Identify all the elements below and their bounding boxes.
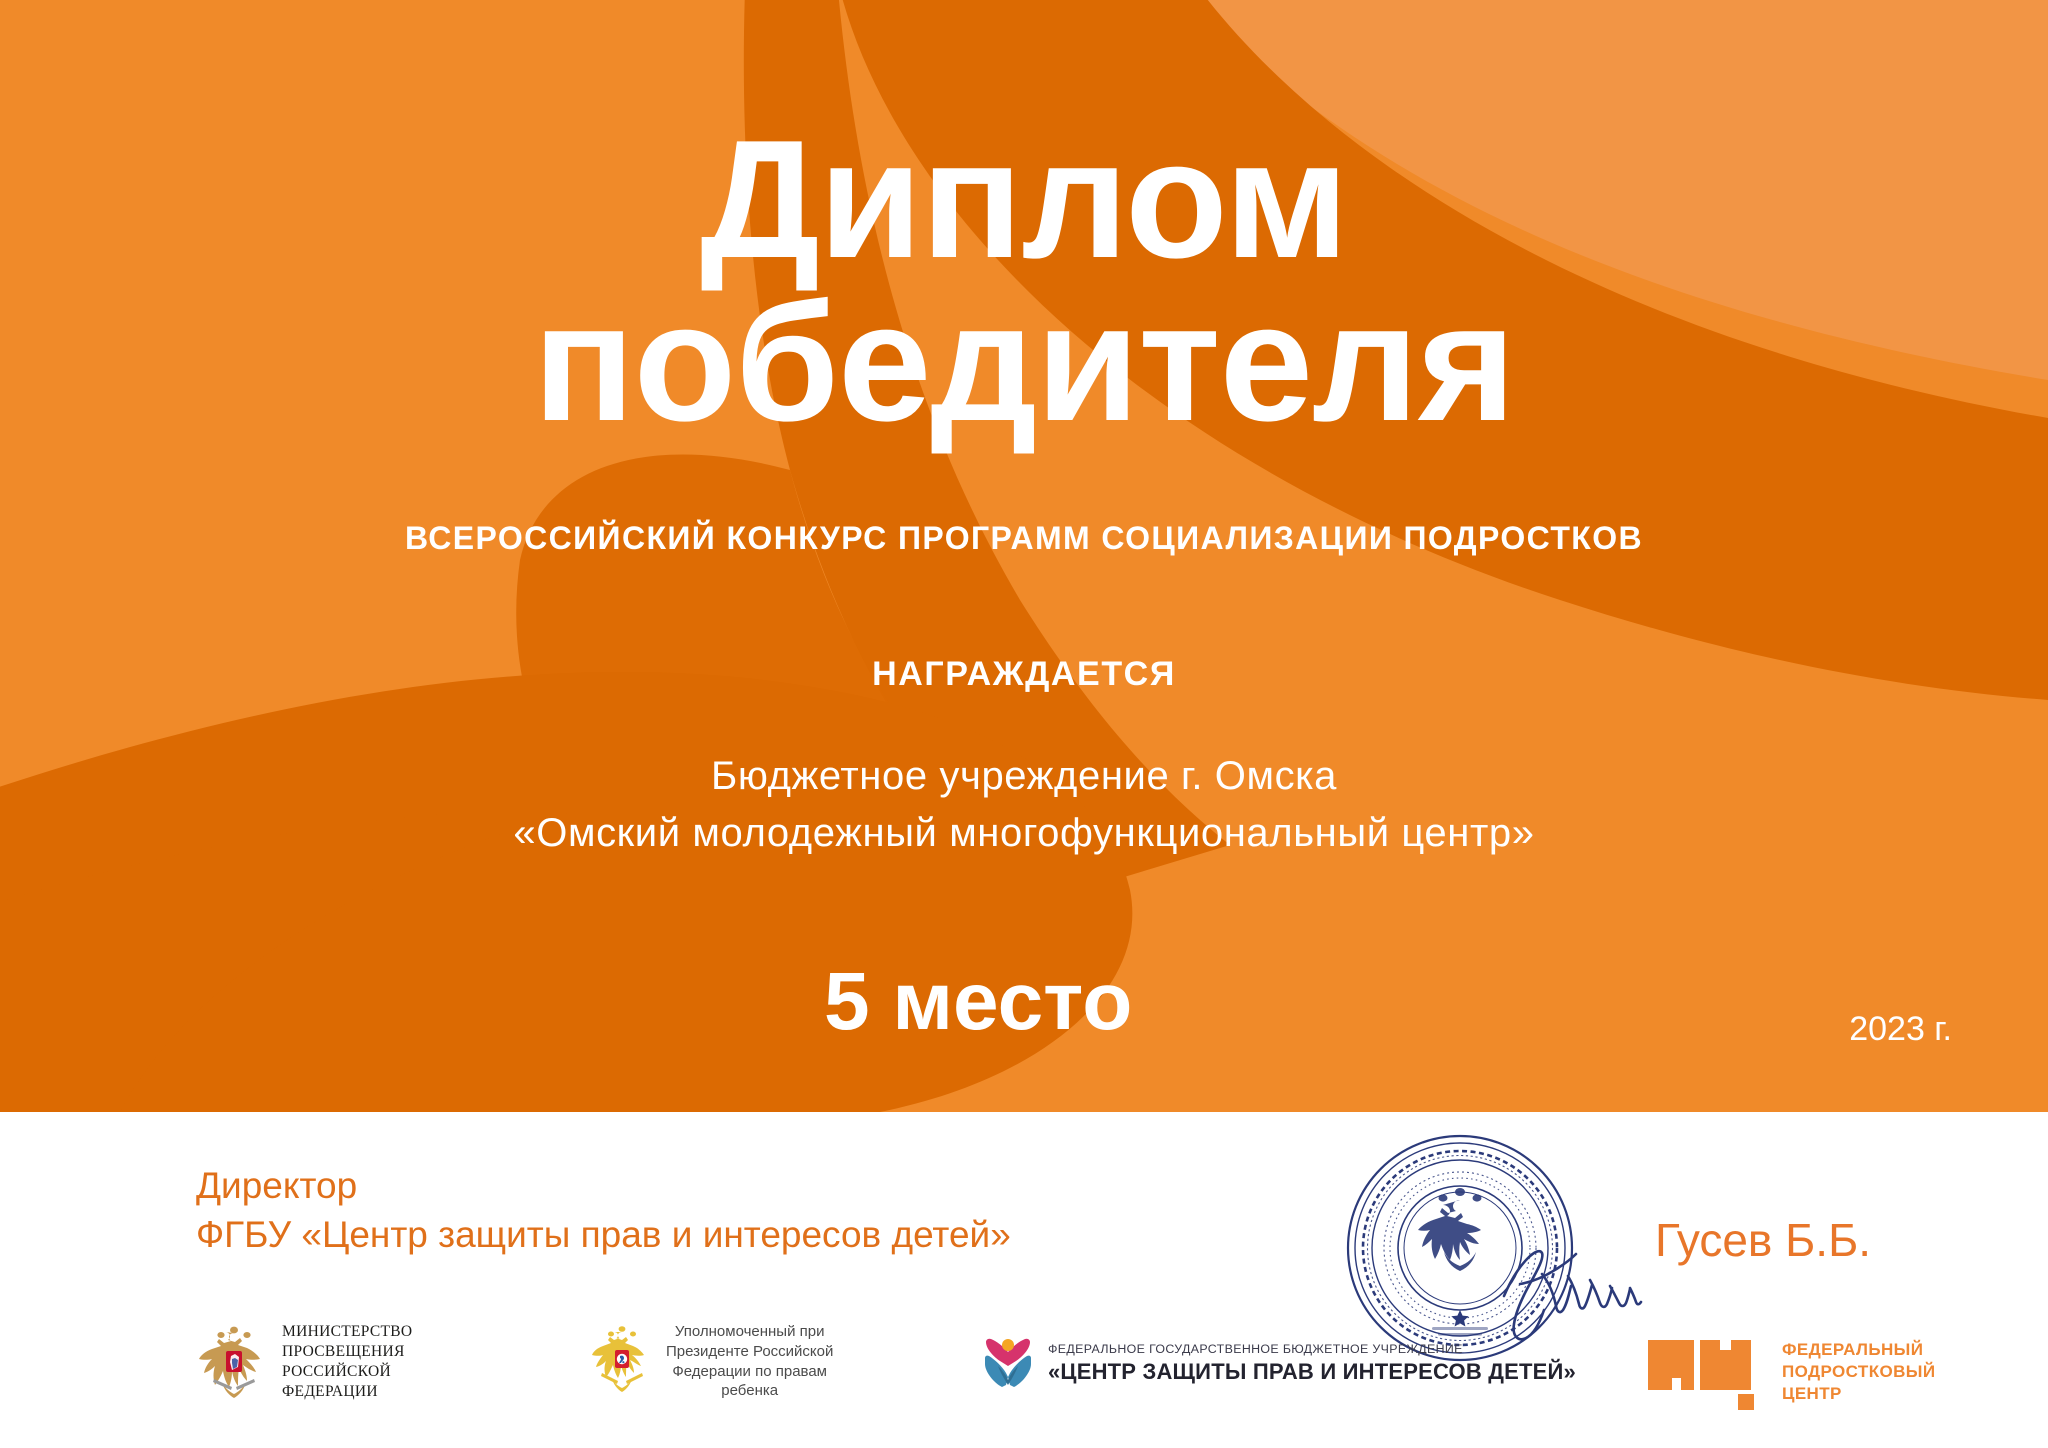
- award-year: 2023 г.: [1849, 1010, 1952, 1049]
- banner-background: Диплом победителя ВСЕРОССИЙСКИЙ КОНКУРС …: [0, 0, 2048, 1112]
- logo-fpc-line-2: ПОДРОСТКОВЫЙ: [1782, 1361, 1935, 1383]
- logo-ministry-line-4: ФЕДЕРАЦИИ: [282, 1382, 412, 1402]
- signer-role-line-1: Директор: [196, 1161, 1011, 1210]
- logo-ministry-line-1: МИНИСТЕРСТВО: [282, 1322, 412, 1342]
- logo-center-main-line: «ЦЕНТР ЗАЩИТЫ ПРАВ И ИНТЕРЕСОВ ДЕТЕЙ»: [1048, 1359, 1576, 1385]
- page-title: Диплом победителя: [0, 118, 2048, 444]
- award-place: 5 место: [824, 955, 1132, 1049]
- logo-ombud-line-1: Уполномоченный при: [666, 1322, 833, 1342]
- logo-ombud-line-3: Федерации по правам: [666, 1362, 833, 1382]
- hands-heart-icon: [980, 1336, 1036, 1390]
- competition-subtitle: ВСЕРОССИЙСКИЙ КОНКУРС ПРОГРАММ СОЦИАЛИЗА…: [0, 520, 2048, 557]
- recipient-line-1: Бюджетное учреждение г. Омска: [0, 748, 2048, 805]
- certificate-page: Диплом победителя ВСЕРОССИЙСКИЙ КОНКУРС …: [0, 0, 2048, 1448]
- logo-childrens-rights-commissioner: Уполномоченный при Президенте Российской…: [590, 1322, 833, 1401]
- orange-blocks-logo-icon: [1646, 1334, 1770, 1410]
- double-headed-eagle-gold-emblem-icon: [590, 1325, 654, 1399]
- logo-ministry-text: МИНИСТЕРСТВО ПРОСВЕЩЕНИЯ РОССИЙСКОЙ ФЕДЕ…: [282, 1322, 412, 1403]
- awarded-label: НАГРАЖДАЕТСЯ: [0, 655, 2048, 694]
- signer-role: Директор ФГБУ «Центр защиты прав и интер…: [196, 1161, 1011, 1259]
- logo-row: МИНИСТЕРСТВО ПРОСВЕЩЕНИЯ РОССИЙСКОЙ ФЕДЕ…: [0, 1322, 2048, 1432]
- double-headed-eagle-emblem-icon: [198, 1325, 270, 1399]
- logo-fpc-text: ФЕДЕРАЛЬНЫЙ ПОДРОСТКОВЫЙ ЦЕНТР: [1782, 1339, 1935, 1405]
- signer-name: Гусев Б.Б.: [1655, 1213, 1871, 1267]
- logo-ombud-text: Уполномоченный при Президенте Российской…: [666, 1322, 833, 1401]
- logo-fpc-line-3: ЦЕНТР: [1782, 1383, 1935, 1405]
- logo-federal-teen-center: ФЕДЕРАЛЬНЫЙ ПОДРОСТКОВЫЙ ЦЕНТР: [1646, 1334, 1935, 1410]
- logo-ministry-of-education: МИНИСТЕРСТВО ПРОСВЕЩЕНИЯ РОССИЙСКОЙ ФЕДЕ…: [198, 1322, 412, 1403]
- logo-center-protection-rights: ФЕДЕРАЛЬНОЕ ГОСУДАРСТВЕННОЕ БЮДЖЕТНОЕ УЧ…: [980, 1336, 1576, 1390]
- logo-ministry-line-2: ПРОСВЕЩЕНИЯ: [282, 1342, 412, 1362]
- recipient-line-2: «Омский молодежный многофункциональный ц…: [0, 805, 2048, 862]
- logo-ombud-line-4: ребенка: [666, 1381, 833, 1401]
- recipient-name: Бюджетное учреждение г. Омска «Омский мо…: [0, 748, 2048, 862]
- logo-center-text: ФЕДЕРАЛЬНОЕ ГОСУДАРСТВЕННОЕ БЮДЖЕТНОЕ УЧ…: [1048, 1342, 1576, 1385]
- title-line-1: Диплом: [0, 118, 2048, 281]
- logo-fpc-line-1: ФЕДЕРАЛЬНЫЙ: [1782, 1339, 1935, 1361]
- title-line-2: победителя: [0, 281, 2048, 444]
- logo-ministry-line-3: РОССИЙСКОЙ: [282, 1362, 412, 1382]
- logo-ombud-line-2: Президенте Российской: [666, 1342, 833, 1362]
- signer-role-line-2: ФГБУ «Центр защиты прав и интересов дете…: [196, 1210, 1011, 1259]
- logo-center-small-line: ФЕДЕРАЛЬНОЕ ГОСУДАРСТВЕННОЕ БЮДЖЕТНОЕ УЧ…: [1048, 1342, 1576, 1356]
